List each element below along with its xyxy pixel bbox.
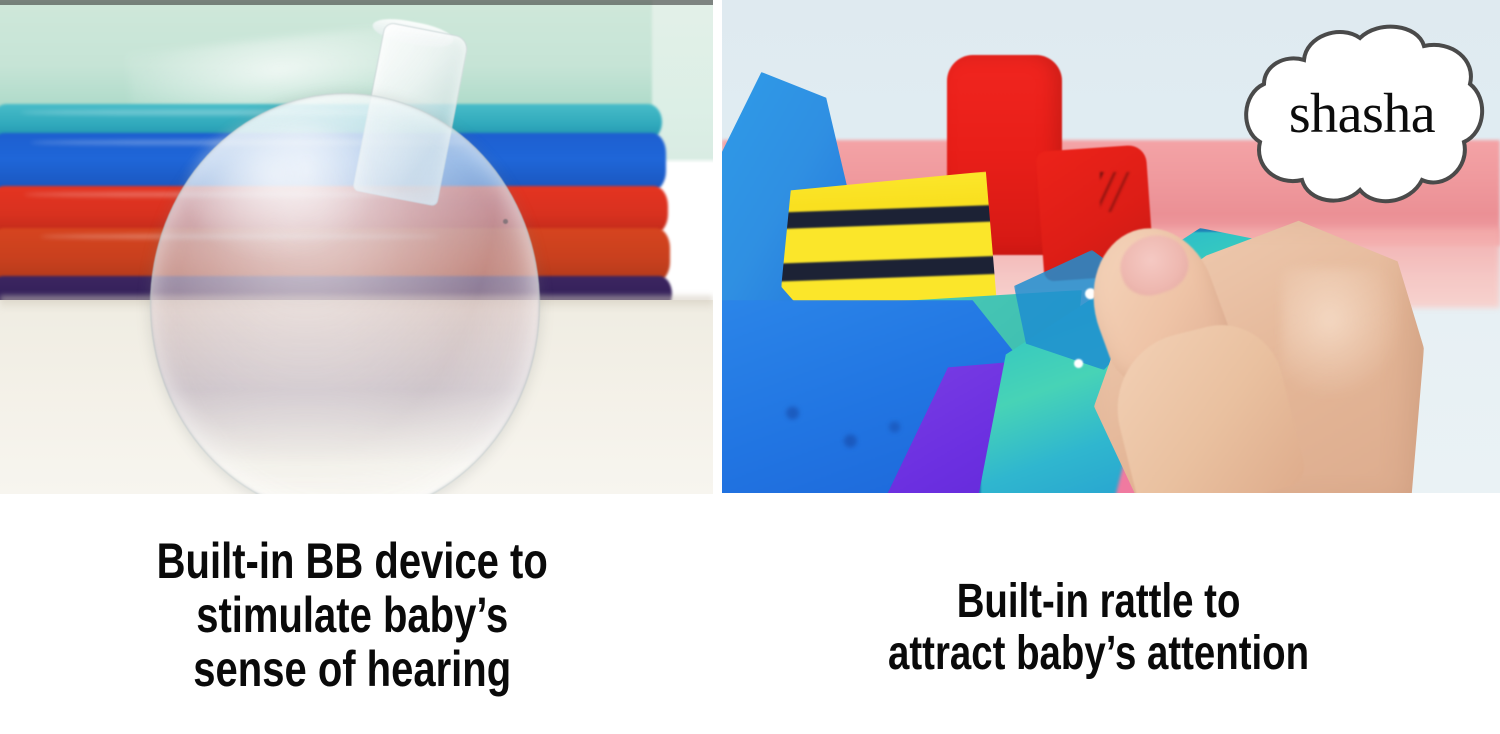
- shasha-speech-bubble: shasha: [1232, 16, 1492, 216]
- feature-collage-page: shasha Built-in BB device to stimulate b…: [0, 0, 1500, 734]
- caption-left-line-1: Built-in BB device to: [67, 534, 637, 588]
- knuckle-highlight: [1282, 268, 1402, 398]
- caption-left-line-3: sense of hearing: [67, 642, 637, 696]
- bb-squeaker-photo: [0, 0, 713, 494]
- caption-right: Built-in rattle to attract baby’s attent…: [787, 576, 1409, 680]
- caption-left-line-2: stimulate baby’s: [67, 588, 637, 642]
- caption-right-line-1: Built-in rattle to: [787, 576, 1409, 628]
- red-rattle-stitching: [1100, 172, 1136, 212]
- blue-page-texture-dots: [762, 392, 932, 462]
- caption-right-line-2: attract baby’s attention: [787, 628, 1409, 680]
- squeaker-vent-dot: [503, 219, 508, 224]
- photo-top-strip: [0, 0, 713, 5]
- caption-left: Built-in BB device to stimulate baby’s s…: [67, 534, 637, 696]
- squeaker-highlight: [188, 120, 378, 260]
- rattle-photo: shasha: [722, 0, 1500, 493]
- speech-bubble-text: shasha: [1232, 16, 1492, 216]
